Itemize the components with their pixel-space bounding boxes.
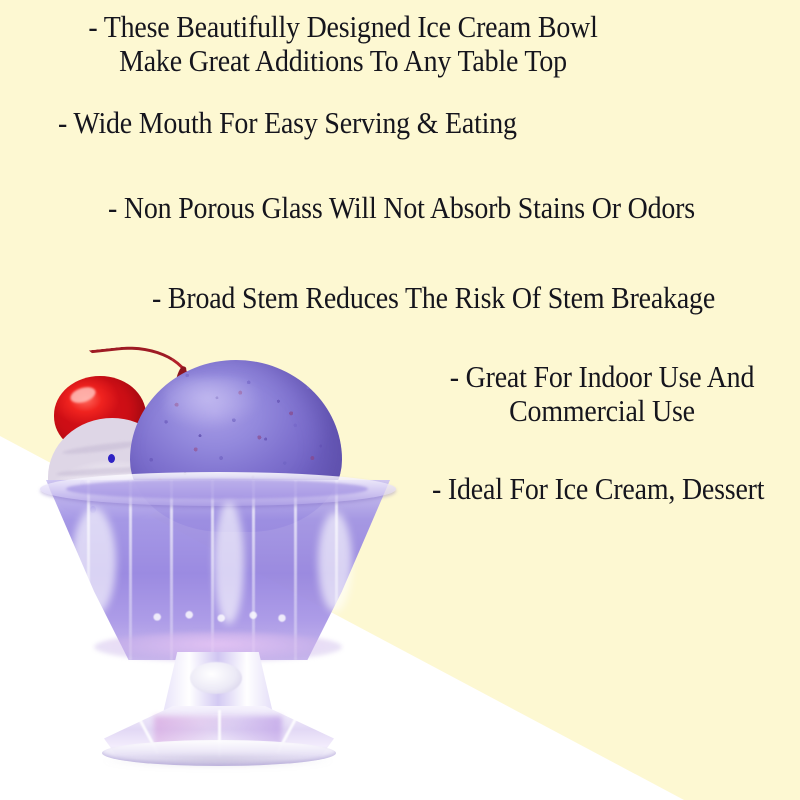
sprinkle bbox=[108, 454, 115, 463]
glass-bowl-rim-inner bbox=[66, 479, 368, 499]
feature-line-5: - Great For Indoor Use And Commercial Us… bbox=[424, 360, 780, 428]
feature-line-2: - Wide Mouth For Easy Serving & Eating bbox=[58, 106, 544, 140]
glass-highlight bbox=[72, 508, 116, 616]
product-feature-graphic: - These Beautifully Designed Ice Cream B… bbox=[0, 0, 800, 800]
glass-flute bbox=[129, 480, 132, 660]
ice-cream-highlight bbox=[164, 377, 262, 429]
glass-flute bbox=[294, 480, 297, 660]
feature-line-3: - Non Porous Glass Will Not Absorb Stain… bbox=[108, 191, 729, 225]
ice-cream-bowl-image bbox=[18, 340, 418, 785]
glass-highlight bbox=[318, 512, 352, 612]
feature-line-6: - Ideal For Ice Cream, Dessert bbox=[432, 472, 774, 506]
glass-stem-knot bbox=[190, 662, 242, 694]
feature-line-4: - Broad Stem Reduces The Risk Of Stem Br… bbox=[152, 281, 764, 315]
feature-line-1: - These Beautifully Designed Ice Cream B… bbox=[28, 10, 658, 78]
product-shadow bbox=[104, 754, 332, 768]
glass-embossed-pattern bbox=[138, 606, 298, 628]
